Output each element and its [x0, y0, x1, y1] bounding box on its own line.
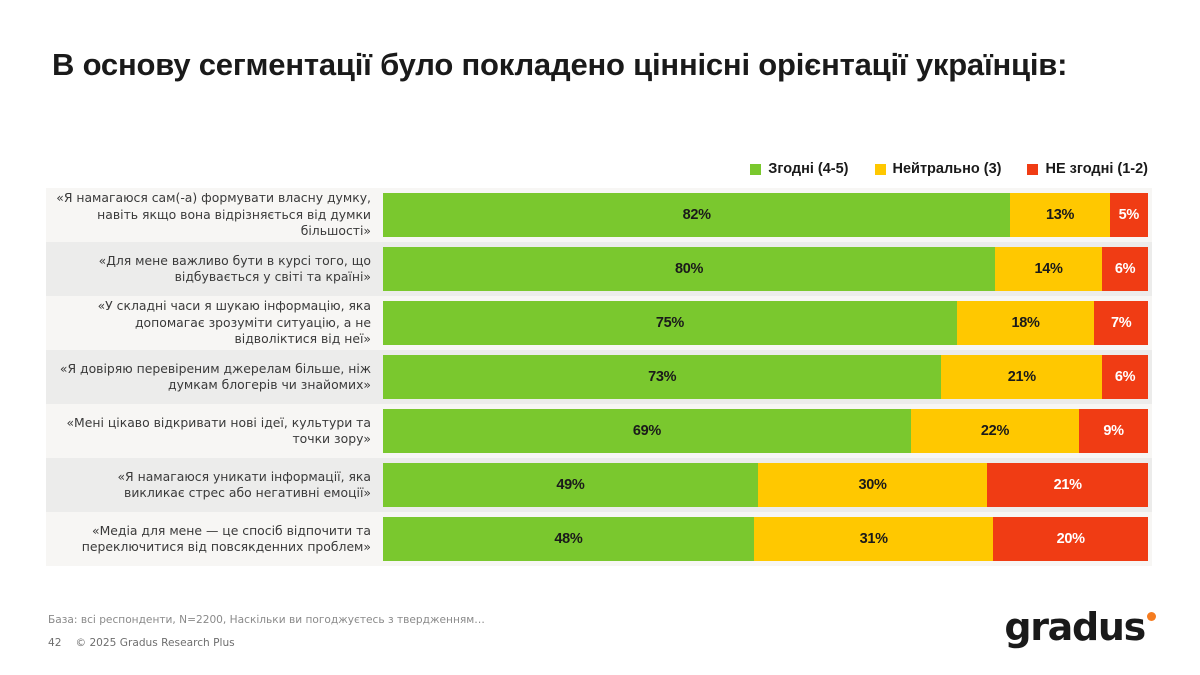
legend-item-neutral: Нейтрально (3)	[875, 161, 1002, 177]
logo-wordmark: gradus	[1004, 608, 1145, 646]
bar-segment-disagree: 9%	[1079, 409, 1148, 453]
title-block: В основу сегментації було покладено цінн…	[52, 44, 1122, 86]
bar-segment-neutral: 13%	[1010, 193, 1109, 237]
row-label: «У складні часи я шукаю інформацію, яка …	[46, 296, 383, 350]
bar-segment-neutral: 31%	[754, 517, 994, 561]
legend-label-neutral: Нейтрально (3)	[893, 161, 1002, 177]
chart-row: «Медіа для мене — це спосіб відпочити та…	[46, 512, 1152, 566]
stacked-bar: 82% 13% 5%	[383, 193, 1148, 237]
bar-segment-agree: 80%	[383, 247, 995, 291]
row-label: «Я намагаюся уникати інформації, яка вик…	[46, 458, 383, 512]
chart-row: «Я намагаюся уникати інформації, яка вик…	[46, 458, 1152, 512]
slide-footer: База: всі респонденти, N=2200, Наскільки…	[48, 613, 948, 649]
copyright-text: © 2025 Gradus Research Plus	[75, 637, 234, 649]
bar-segment-neutral: 14%	[995, 247, 1102, 291]
bar-segment-disagree: 21%	[987, 463, 1148, 507]
chart-legend: Згодні (4-5) Нейтрально (3) НЕ згодні (1…	[750, 161, 1148, 177]
slide-canvas: В основу сегментації було покладено цінн…	[0, 0, 1200, 675]
page-number: 42	[48, 637, 61, 649]
bar-segment-neutral: 21%	[941, 355, 1102, 399]
bar-segment-neutral: 18%	[957, 301, 1095, 345]
row-bar-wrap: 80% 14% 6%	[383, 242, 1152, 296]
legend-square-green-icon	[750, 164, 761, 175]
bar-segment-agree: 48%	[383, 517, 754, 561]
stacked-bar: 75% 18% 7%	[383, 301, 1148, 345]
bar-segment-neutral: 30%	[758, 463, 988, 507]
row-bar-wrap: 49% 30% 21%	[383, 458, 1152, 512]
bar-segment-disagree: 6%	[1102, 355, 1148, 399]
logo-dot-icon	[1147, 612, 1156, 621]
row-label: «Я намагаюся сам(-а) формувати власну ду…	[46, 188, 383, 242]
stacked-bar: 49% 30% 21%	[383, 463, 1148, 507]
legend-item-agree: Згодні (4-5)	[750, 161, 848, 177]
source-note: База: всі респонденти, N=2200, Наскільки…	[48, 613, 948, 628]
legend-item-disagree: НЕ згодні (1-2)	[1027, 161, 1148, 177]
bar-segment-agree: 82%	[383, 193, 1010, 237]
chart-row: «Я довіряю перевіреним джерелам більше, …	[46, 350, 1152, 404]
stacked-bar: 69% 22% 9%	[383, 409, 1148, 453]
bar-segment-agree: 73%	[383, 355, 941, 399]
bar-segment-disagree: 6%	[1102, 247, 1148, 291]
chart-row: «У складні часи я шукаю інформацію, яка …	[46, 296, 1152, 350]
bar-segment-disagree: 5%	[1110, 193, 1148, 237]
stacked-bar: 73% 21% 6%	[383, 355, 1148, 399]
row-label: «Для мене важливо бути в курсі того, що …	[46, 242, 383, 296]
legend-label-agree: Згодні (4-5)	[768, 161, 848, 177]
stacked-bar-chart: «Я намагаюся сам(-а) формувати власну ду…	[46, 188, 1152, 566]
row-bar-wrap: 73% 21% 6%	[383, 350, 1152, 404]
row-label: «Я довіряю перевіреним джерелам більше, …	[46, 350, 383, 404]
row-bar-wrap: 75% 18% 7%	[383, 296, 1152, 350]
bar-segment-agree: 49%	[383, 463, 758, 507]
bar-segment-disagree: 7%	[1094, 301, 1148, 345]
bar-segment-agree: 75%	[383, 301, 957, 345]
chart-row: «Я намагаюся сам(-а) формувати власну ду…	[46, 188, 1152, 242]
row-label: «Медіа для мене — це спосіб відпочити та…	[46, 512, 383, 566]
bar-segment-disagree: 20%	[993, 517, 1148, 561]
stacked-bar: 48% 31% 20%	[383, 517, 1148, 561]
row-bar-wrap: 48% 31% 20%	[383, 512, 1152, 566]
row-bar-wrap: 82% 13% 5%	[383, 188, 1152, 242]
legend-label-disagree: НЕ згодні (1-2)	[1045, 161, 1148, 177]
gradus-logo: gradus	[1004, 608, 1156, 646]
row-label: «Мені цікаво відкривати нові ідеї, культ…	[46, 404, 383, 458]
legend-square-red-icon	[1027, 164, 1038, 175]
page-title: В основу сегментації було покладено цінн…	[52, 44, 1122, 86]
stacked-bar: 80% 14% 6%	[383, 247, 1148, 291]
bar-segment-neutral: 22%	[911, 409, 1079, 453]
legend-square-yellow-icon	[875, 164, 886, 175]
chart-row: «Для мене важливо бути в курсі того, що …	[46, 242, 1152, 296]
chart-row: «Мені цікаво відкривати нові ідеї, культ…	[46, 404, 1152, 458]
row-bar-wrap: 69% 22% 9%	[383, 404, 1152, 458]
copyright-line: 42 © 2025 Gradus Research Plus	[48, 637, 948, 649]
bar-segment-agree: 69%	[383, 409, 911, 453]
